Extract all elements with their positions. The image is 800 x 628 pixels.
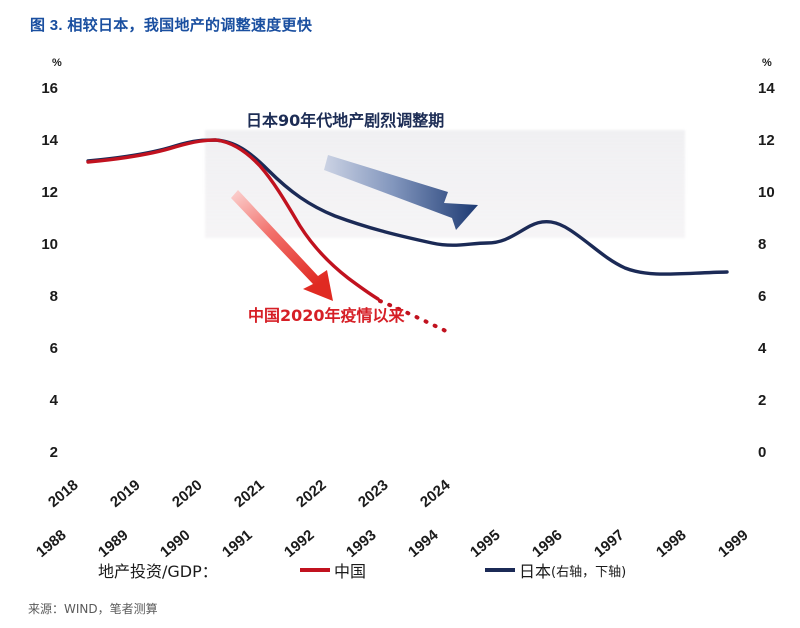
plot-area: % % 16 14 12 10 8 6 4 2 14 12 10 8 6 4 2… xyxy=(0,46,800,466)
x-top-label-2021: 2021 xyxy=(231,477,267,511)
legend-item-japan[interactable]: 日本 (右轴，下轴) xyxy=(485,558,626,582)
source-note: 来源：WIND，笔者测算 xyxy=(28,600,158,617)
figure-title: 图 3. 相较日本，我国地产的调整速度更快 xyxy=(30,14,312,35)
japan-annotation-label: 日本90年代地产剧烈调整期 xyxy=(246,107,444,131)
x-top-label-2023: 2023 xyxy=(355,477,391,511)
legend-label-japan-sub: (右轴，下轴) xyxy=(551,561,626,580)
china-line-swatch xyxy=(300,568,330,572)
legend-item-china[interactable]: 中国 xyxy=(300,558,366,582)
legend-title: 地产投资/GDP： xyxy=(98,558,218,582)
x-top-label-2024: 2024 xyxy=(417,477,453,511)
japan-line xyxy=(88,140,727,274)
figure-container: 图 3. 相较日本，我国地产的调整速度更快 % % 16 14 12 10 8 … xyxy=(0,0,800,628)
legend: 地产投资/GDP： 中国 日本 (右轴，下轴) xyxy=(0,556,800,586)
legend-label-japan: 日本 xyxy=(519,558,551,582)
x-top-label-2018: 2018 xyxy=(45,477,81,511)
china-annotation-label: 中国2020年疫情以来 xyxy=(248,302,405,326)
legend-label-china: 中国 xyxy=(334,558,366,582)
japan-line-swatch xyxy=(485,568,515,572)
x-top-label-2020: 2020 xyxy=(169,477,205,511)
x-top-label-2019: 2019 xyxy=(107,477,143,511)
x-top-label-2022: 2022 xyxy=(293,477,329,511)
